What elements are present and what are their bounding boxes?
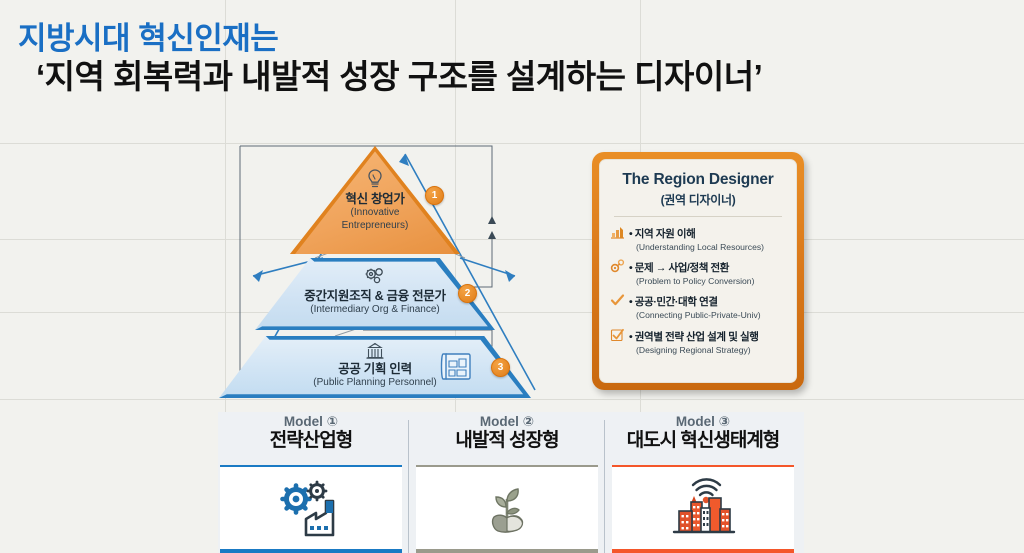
- list-item-text: • 문제 → 사업/정책 전환 (Problem to Policy Conve…: [629, 258, 786, 286]
- model-label: Model ①: [218, 414, 404, 430]
- model-label: Model ②: [414, 414, 600, 430]
- region-designer-subtitle: (권역 디자이너): [610, 191, 786, 208]
- model-card-body: [612, 467, 794, 553]
- card-separator-1: [408, 420, 409, 553]
- model-card-body: [416, 467, 598, 553]
- slide-title: 지방시대 혁신인재는 ‘지역 회복력과 내발적 성장 구조를 설계하는 디자이너…: [18, 22, 762, 96]
- gears-factory-icon: [276, 479, 346, 542]
- list-item-text: • 공공·민간·대학 연결 (Connecting Public-Private…: [629, 292, 786, 320]
- blueprint-icon: [437, 350, 473, 389]
- region-designer-inner: The Region Designer (권역 디자이너) • 지역 자원: [599, 159, 797, 383]
- list-item-text: • 권역별 전략 산업 설계 및 실행 (Designing Regional …: [629, 327, 786, 355]
- item-en: (Understanding Local Resources): [636, 242, 786, 252]
- model-card-2[interactable]: Model ② 내발적 성장형: [414, 412, 600, 553]
- model-label: Model ③: [610, 414, 796, 430]
- list-item[interactable]: • 지역 자원 이해 (Understanding Local Resource…: [610, 224, 786, 252]
- list-item-text: • 지역 자원 이해 (Understanding Local Resource…: [629, 224, 786, 252]
- sprout-map-icon: [474, 479, 540, 542]
- item-en: (Designing Regional Strategy): [636, 345, 786, 355]
- gear-key-icon: [610, 258, 626, 274]
- region-designer-divider: [614, 216, 782, 217]
- pyramid-tier-bottom[interactable]: 공공 기획 인력 (Public Planning Personnel) 3: [219, 336, 531, 398]
- lightbulb-idea-icon: [365, 168, 385, 195]
- list-item[interactable]: • 공공·민간·대학 연결 (Connecting Public-Private…: [610, 292, 786, 320]
- model-name: 전략산업형: [218, 431, 404, 452]
- card-separator-2: [604, 420, 605, 553]
- item-ko: • 문제 → 사업/정책 전환: [629, 262, 729, 274]
- pyramid-tier-top[interactable]: 혁신 창업가 (Innovative Entrepreneurs) 1: [290, 146, 460, 254]
- item-en: (Connecting Public-Private-Univ): [636, 310, 786, 320]
- pyramid-badge-3[interactable]: 3: [491, 358, 510, 377]
- title-line-2: ‘지역 회복력과 내발적 성장 구조를 설계하는 디자이너’: [36, 59, 762, 96]
- talent-pyramid: 혁신 창업가 (Innovative Entrepreneurs) 1: [215, 140, 565, 402]
- model-card-3[interactable]: Model ③ 대도시 혁신생태계형: [610, 412, 796, 553]
- region-designer-list: • 지역 자원 이해 (Understanding Local Resource…: [610, 224, 786, 355]
- gears-icon: [363, 266, 387, 291]
- smart-city-icon: [664, 478, 742, 543]
- model-card-body: [220, 467, 402, 553]
- list-item[interactable]: • 문제 → 사업/정책 전환 (Problem to Policy Conve…: [610, 258, 786, 286]
- pyramid-badge-2[interactable]: 2: [458, 284, 477, 303]
- item-en: (Problem to Policy Conversion): [636, 276, 786, 286]
- accent-bar-bottom: [416, 549, 598, 553]
- slide-canvas: 지방시대 혁신인재는 ‘지역 회복력과 내발적 성장 구조를 설계하는 디자이너…: [0, 0, 1024, 553]
- item-ko: • 권역별 전략 산업 설계 및 실행: [629, 331, 759, 343]
- title-line-1: 지방시대 혁신인재는: [18, 22, 762, 57]
- accent-bar-bottom: [612, 549, 794, 553]
- region-designer-card[interactable]: The Region Designer (권역 디자이너) • 지역 자원: [592, 152, 804, 390]
- check-mark-icon: [610, 292, 626, 308]
- checkbox-checked-icon: [610, 327, 626, 343]
- bar-chart-building-icon: [610, 224, 626, 240]
- model-cards: Model ① 전략산업형: [218, 412, 804, 553]
- region-designer-title: The Region Designer: [610, 171, 786, 189]
- pyramid-badge-1[interactable]: 1: [425, 186, 444, 205]
- model-card-1[interactable]: Model ① 전략산업형: [218, 412, 404, 553]
- model-name: 대도시 혁신생태계형: [610, 431, 796, 452]
- model-name: 내발적 성장형: [414, 431, 600, 452]
- pyramid-tier-middle[interactable]: 중간지원조직 & 금융 전문가 (Intermediary Org & Fina…: [255, 258, 495, 330]
- accent-bar-bottom: [220, 549, 402, 553]
- government-building-icon: [364, 342, 386, 364]
- item-ko: • 공공·민간·대학 연결: [629, 296, 718, 308]
- item-ko: • 지역 자원 이해: [629, 228, 695, 240]
- list-item[interactable]: • 권역별 전략 산업 설계 및 실행 (Designing Regional …: [610, 327, 786, 355]
